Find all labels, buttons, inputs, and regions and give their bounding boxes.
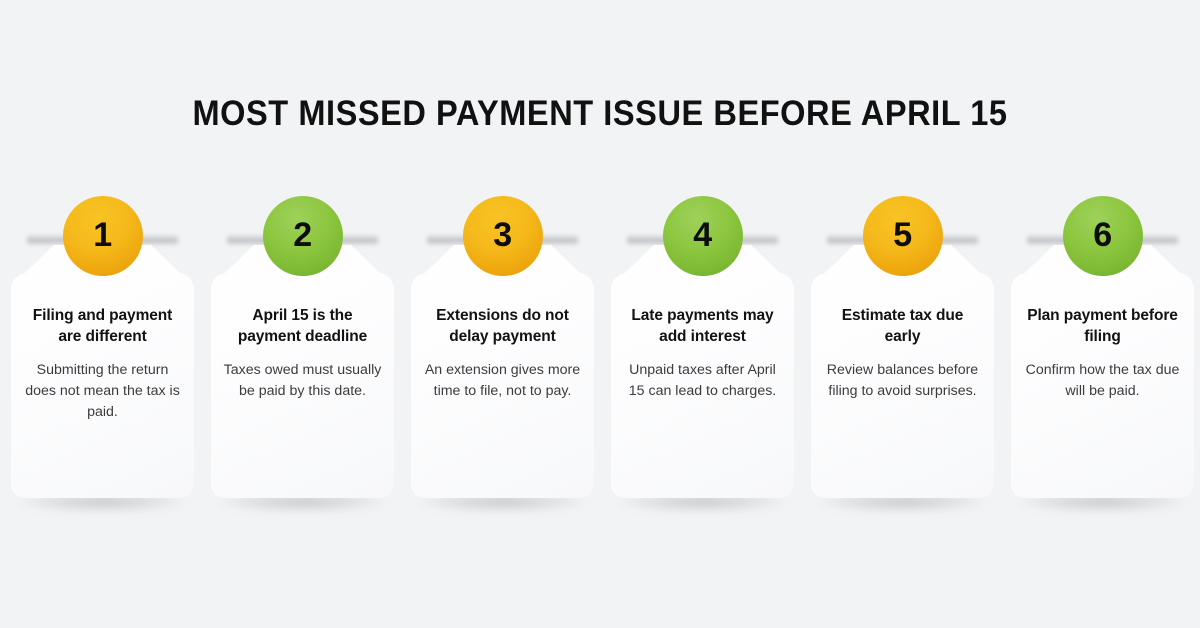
card-content: Extensions do not delay payment An exten… bbox=[422, 305, 583, 402]
card-description: Review balances before filing to avoid s… bbox=[822, 360, 983, 401]
card-description: Taxes owed must usually be paid by this … bbox=[222, 360, 383, 401]
step-badge-5: 5 bbox=[863, 196, 943, 276]
page-title: MOST MISSED PAYMENT ISSUE BEFORE APRIL 1… bbox=[42, 94, 1158, 134]
card-description: An extension gives more time to file, no… bbox=[422, 360, 583, 401]
badge-number: 5 bbox=[893, 218, 911, 252]
card-description: Submitting the return does not mean the … bbox=[22, 360, 183, 422]
info-card: 4 Late payments may add interest Unpaid … bbox=[611, 243, 794, 498]
info-card: 1 Filing and payment are different Submi… bbox=[11, 243, 194, 498]
info-card: 3 Extensions do not delay payment An ext… bbox=[411, 243, 594, 498]
card-heading: Estimate tax due early bbox=[822, 305, 983, 347]
step-badge-1: 1 bbox=[63, 196, 143, 276]
cards-row: 1 Filing and payment are different Submi… bbox=[11, 243, 1189, 498]
card-content: April 15 is the payment deadline Taxes o… bbox=[222, 305, 383, 402]
card-content: Filing and payment are different Submitt… bbox=[22, 305, 183, 422]
step-badge-6: 6 bbox=[1063, 196, 1143, 276]
card-heading: Filing and payment are different bbox=[22, 305, 183, 347]
step-badge-4: 4 bbox=[663, 196, 743, 276]
card-content: Late payments may add interest Unpaid ta… bbox=[622, 305, 783, 402]
info-card: 6 Plan payment before filing Confirm how… bbox=[1011, 243, 1194, 498]
card-content: Estimate tax due early Review balances b… bbox=[822, 305, 983, 402]
card-description: Unpaid taxes after April 15 can lead to … bbox=[622, 360, 783, 401]
info-card: 5 Estimate tax due early Review balances… bbox=[811, 243, 994, 498]
badge-number: 2 bbox=[293, 218, 311, 252]
badge-number: 4 bbox=[693, 218, 711, 252]
card-description: Confirm how the tax due will be paid. bbox=[1022, 360, 1183, 401]
badge-number: 3 bbox=[493, 218, 511, 252]
card-heading: April 15 is the payment deadline bbox=[222, 305, 383, 347]
badge-number: 1 bbox=[93, 218, 111, 252]
info-card: 2 April 15 is the payment deadline Taxes… bbox=[211, 243, 394, 498]
step-badge-2: 2 bbox=[263, 196, 343, 276]
card-heading: Late payments may add interest bbox=[622, 305, 783, 347]
step-badge-3: 3 bbox=[463, 196, 543, 276]
card-heading: Extensions do not delay payment bbox=[422, 305, 583, 347]
card-heading: Plan payment before filing bbox=[1022, 305, 1183, 347]
badge-number: 6 bbox=[1093, 218, 1111, 252]
card-content: Plan payment before filing Confirm how t… bbox=[1022, 305, 1183, 402]
